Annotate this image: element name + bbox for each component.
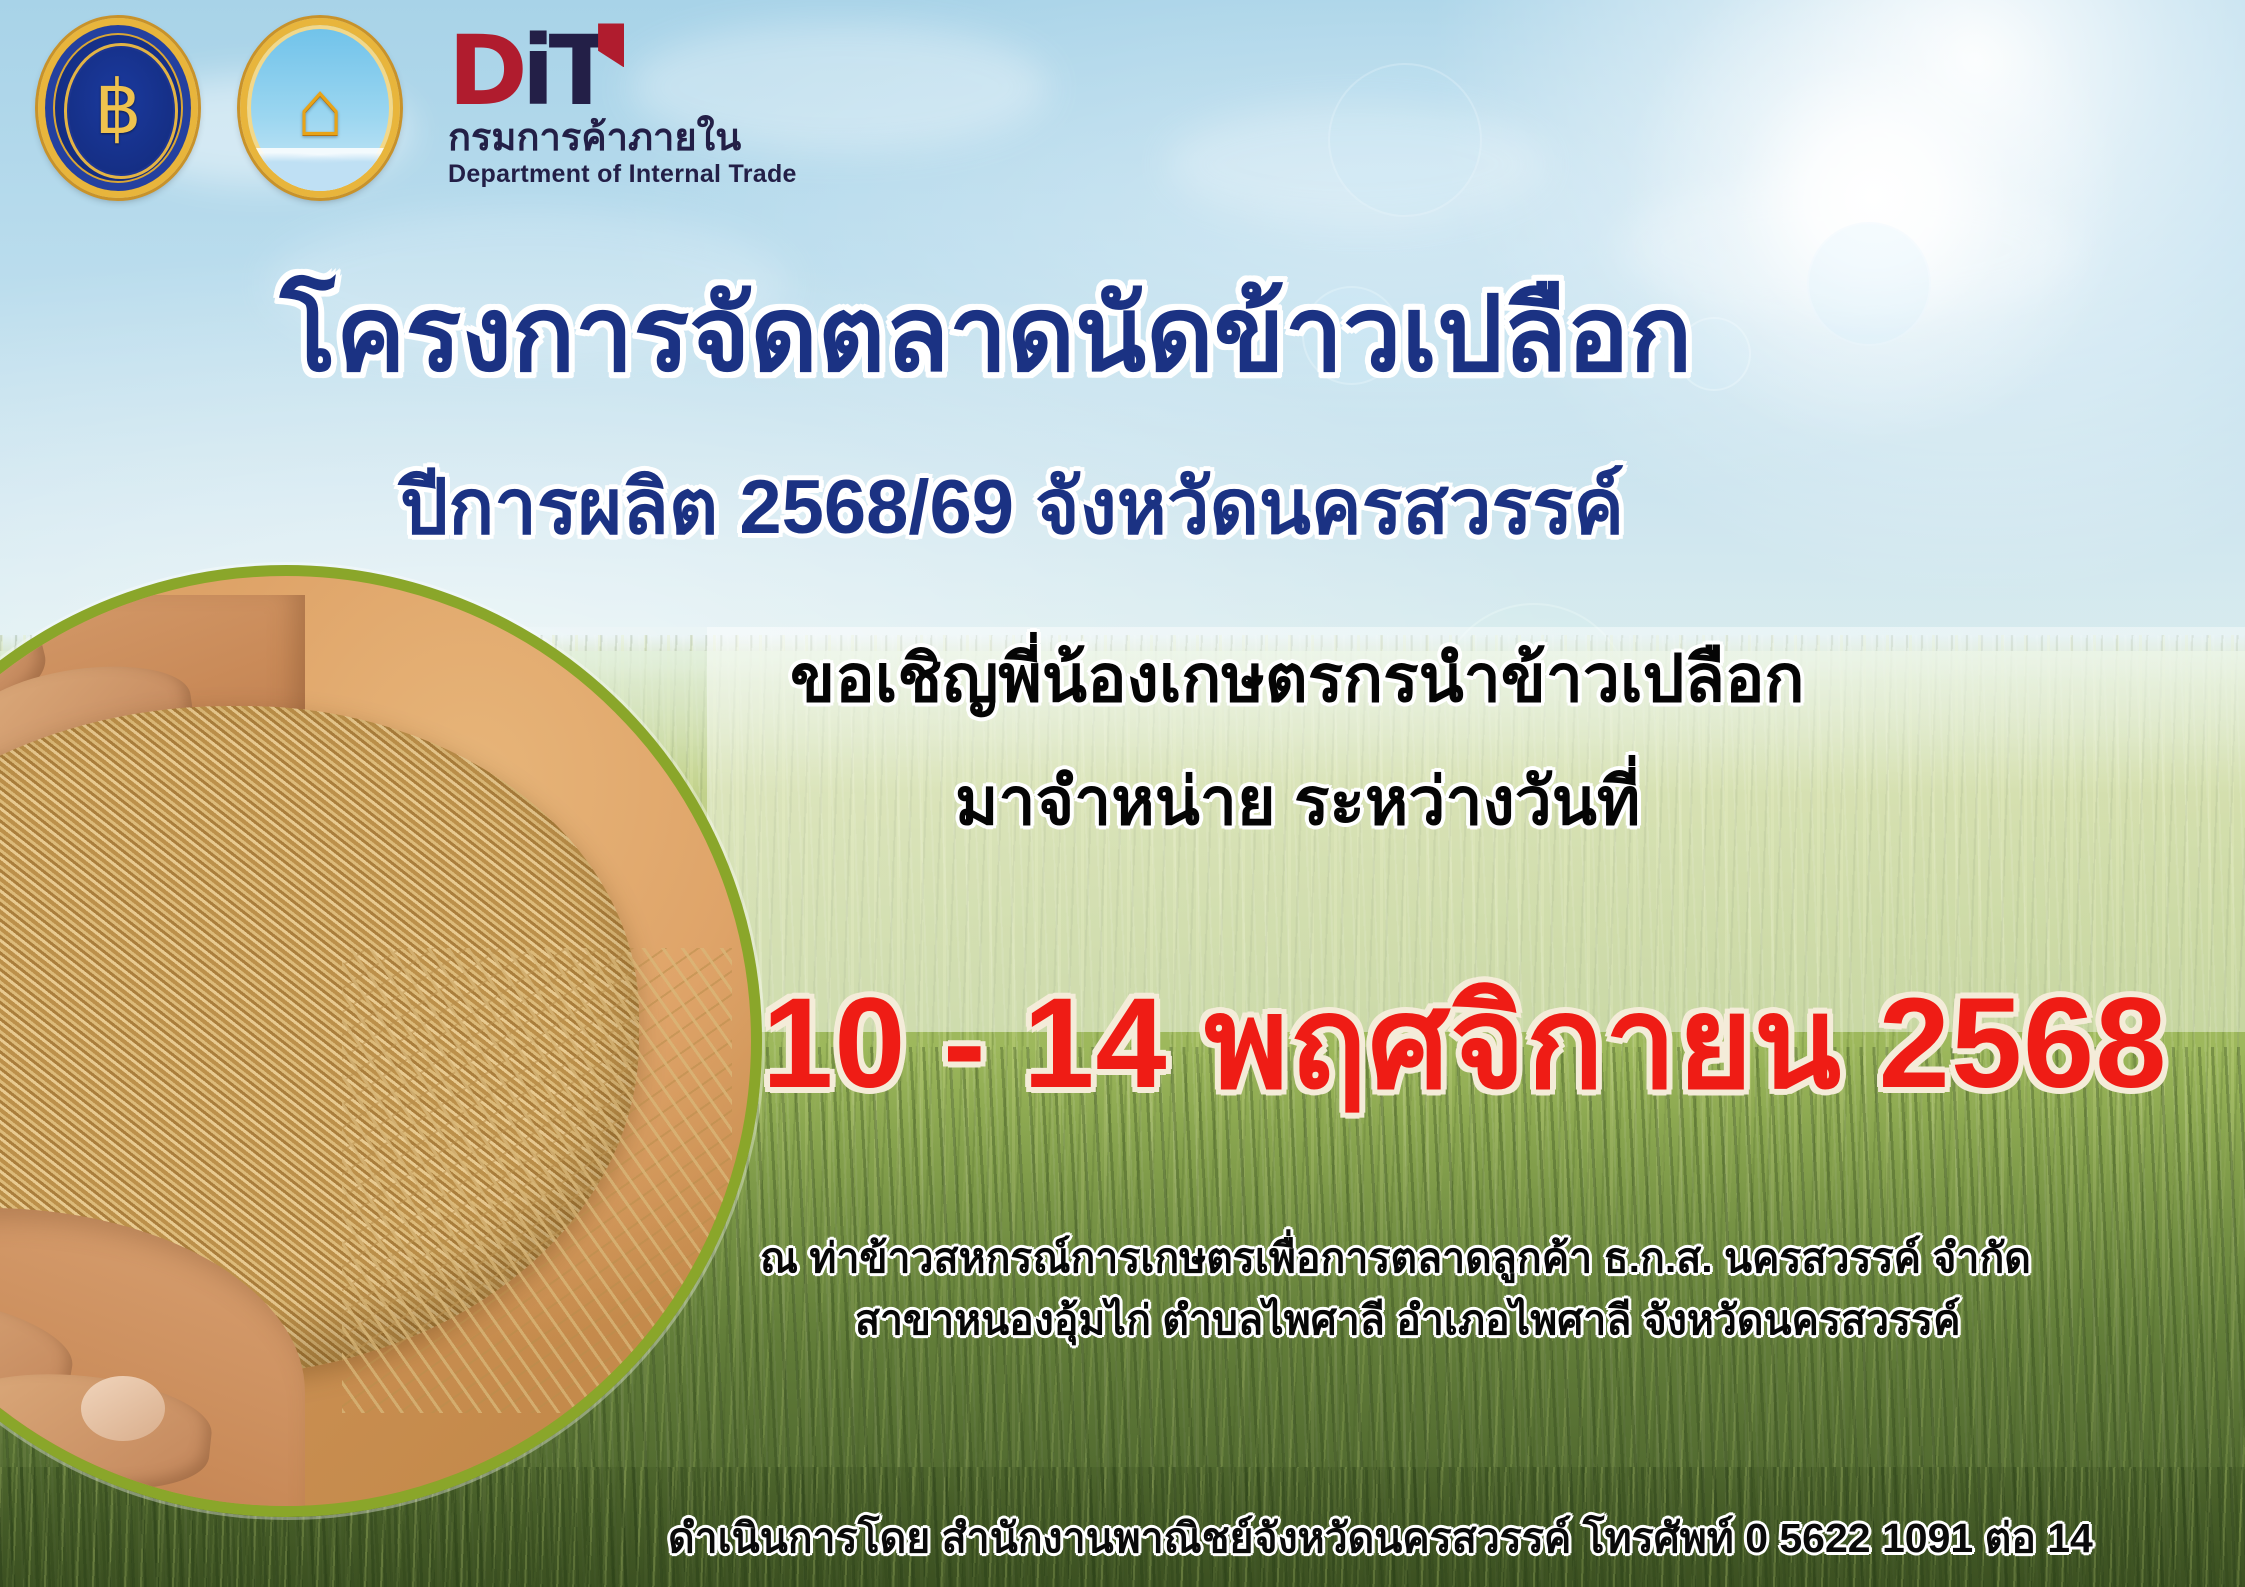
poster-canvas: ฿ ⌂ DiT กรมการค้าภายใน Department of Int… [0, 0, 2245, 1587]
thumb-nail-shape [81, 1376, 165, 1441]
nakhon-sawan-province-seal-icon: ⌂ [240, 18, 400, 198]
header-logo-group: ฿ ⌂ DiT กรมการค้าภายใน Department of Int… [38, 18, 797, 198]
dit-letter-i: i [522, 15, 549, 127]
page-title: โครงการจัดตลาดนัดข้าวเปลือก [280, 283, 1692, 387]
garuda-glyph: ฿ [94, 71, 141, 145]
dit-letter-d: D [448, 15, 522, 127]
invitation-line-1: ขอเชิญพี่น้องเกษตรกรนำข้าวเปลือก [790, 645, 1805, 711]
invitation-line-2: มาจำหน่าย ระหว่างวันที่ [955, 768, 1640, 834]
dit-english-name: Department of Internal Trade [448, 160, 797, 189]
dit-logo: DiT กรมการค้าภายใน Department of Interna… [448, 27, 797, 188]
organizer-contact-footer: ดำเนินการโดย สำนักงานพาณิชย์จังหวัดนครสว… [668, 1518, 2093, 1559]
temple-glyph: ⌂ [296, 69, 343, 147]
dit-wordmark: DiT [448, 27, 624, 115]
venue-line-2: สาขาหนองอุ้มไก่ ตำบลไพศาลี อำเภอไพศาลี จ… [855, 1300, 1961, 1341]
production-year-subtitle: ปีการผลิต 2568/69 จังหวัดนครสวรรค์ [400, 470, 1624, 546]
thai-royal-garuda-seal-icon: ฿ [38, 18, 198, 198]
lens-flare-decoration [1807, 222, 1931, 346]
event-date: 10 - 14 พฤศจิกายน 2568 [762, 980, 2167, 1108]
venue-line-1: ณ ท่าข้าวสหกรณ์การเกษตรเพื่อการตลาดลูกค้… [760, 1238, 2031, 1279]
rice-grain-scatter [342, 948, 733, 1413]
lens-flare-decoration [1328, 63, 1482, 217]
